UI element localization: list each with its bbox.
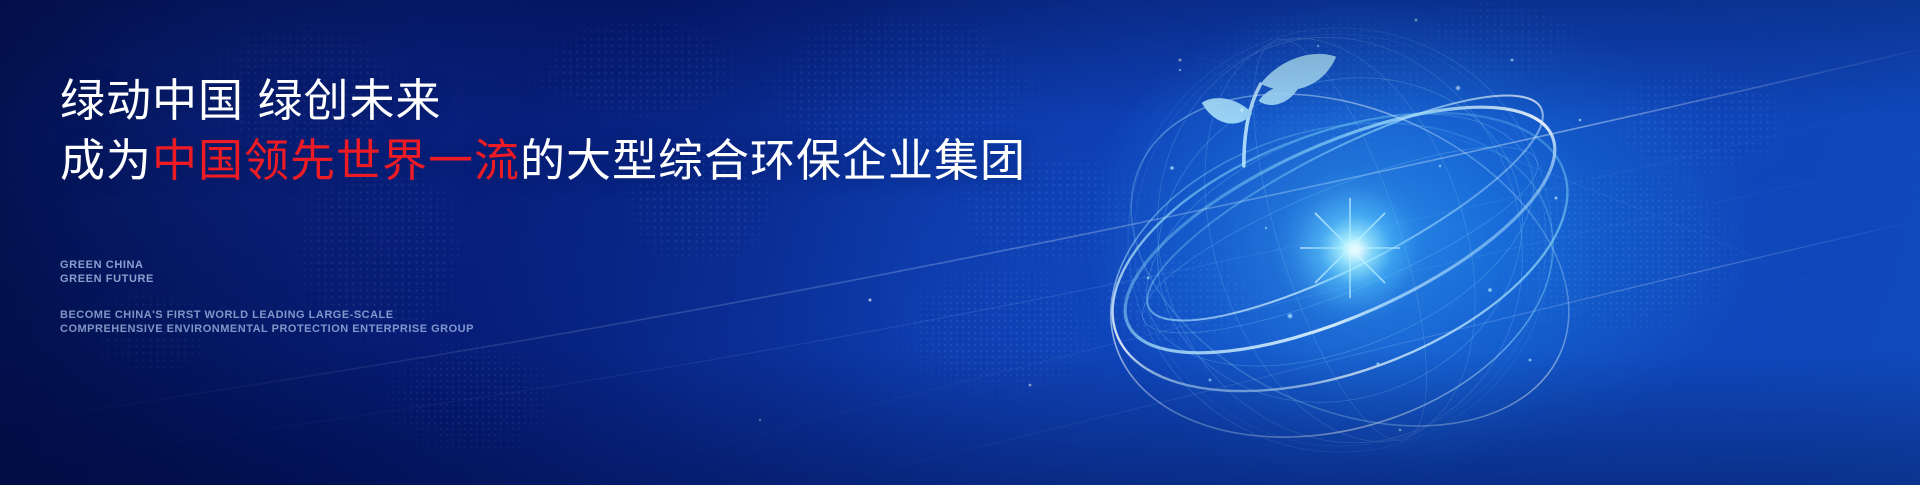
tagline-english: BECOME CHINA'S FIRST WORLD LEADING LARGE… <box>60 308 474 337</box>
headline-line-1: 绿动中国 绿创未来 <box>60 72 1026 130</box>
headline-line-2: 成为中国领先世界一流的大型综合环保企业集团 <box>60 132 1026 190</box>
subtitle-english-line-1: GREEN CHINA <box>60 258 154 272</box>
subtitle-english-line-2: GREEN FUTURE <box>60 272 154 286</box>
tagline-english-line-1: BECOME CHINA'S FIRST WORLD LEADING LARGE… <box>60 308 474 322</box>
headline-suffix: 的大型综合环保企业集团 <box>520 135 1026 186</box>
headline-highlight: 中国领先世界一流 <box>152 135 520 186</box>
headline-prefix: 成为 <box>60 135 152 186</box>
tagline-english-line-2: COMPREHENSIVE ENVIRONMENTAL PROTECTION E… <box>60 322 474 336</box>
hero-banner: 绿动中国 绿创未来 成为中国领先世界一流的大型综合环保企业集团 GREEN CH… <box>0 0 1920 485</box>
headline-block: 绿动中国 绿创未来 成为中国领先世界一流的大型综合环保企业集团 <box>60 72 1026 189</box>
subtitle-english: GREEN CHINA GREEN FUTURE <box>60 258 154 287</box>
